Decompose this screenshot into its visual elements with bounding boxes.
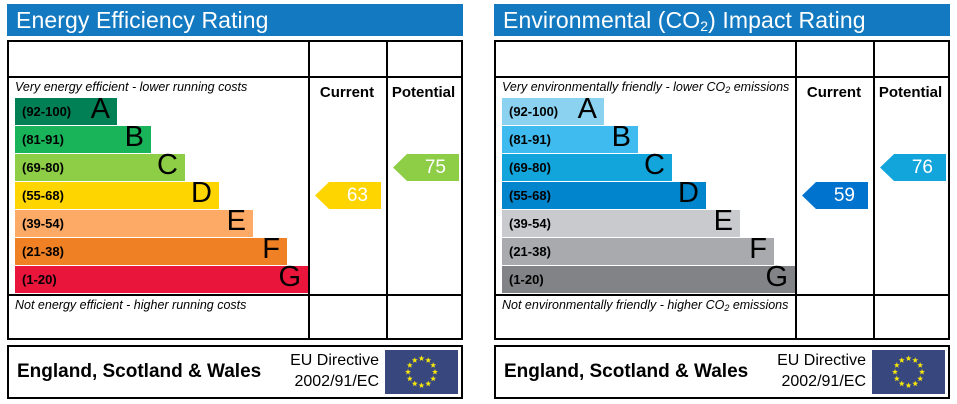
band-letter-label: A bbox=[91, 94, 110, 125]
potential-rating-arrow: 75 bbox=[393, 154, 459, 181]
band-letter-label: B bbox=[125, 122, 144, 153]
eu-directive-line1: EU Directive bbox=[736, 350, 866, 371]
rating-band-e: (39-54)E bbox=[502, 210, 740, 237]
co2-impact-panel: Environmental (CO2) Impact Rating Curren… bbox=[487, 0, 957, 404]
band-range-label: (55-68) bbox=[509, 182, 551, 209]
band-letter-label: A bbox=[578, 94, 597, 125]
band-letter-label: G bbox=[278, 262, 301, 293]
caption-top-text: Very environmentally friendly - lower CO bbox=[502, 80, 725, 94]
band-letter-label: F bbox=[749, 234, 767, 265]
rating-band-g: (1-20)G bbox=[15, 266, 308, 293]
caption-bottom: Not energy efficient - higher running co… bbox=[15, 296, 305, 314]
rating-band-e: (39-54)E bbox=[15, 210, 253, 237]
band-range-label: (69-80) bbox=[22, 154, 64, 181]
rating-band-a: (92-100)A bbox=[502, 98, 604, 125]
band-letter-label: E bbox=[227, 206, 246, 237]
region-label: England, Scotland & Wales bbox=[504, 347, 748, 397]
eu-directive-line2: 2002/91/EC bbox=[249, 371, 379, 392]
column-header-potential: Potential bbox=[873, 76, 948, 110]
potential-rating-arrow: 76 bbox=[880, 154, 946, 181]
band-range-label: (39-54) bbox=[509, 210, 551, 237]
column-header-potential: Potential bbox=[386, 76, 461, 110]
caption-bottom-suffix: emissions bbox=[729, 298, 788, 312]
eu-directive-label: EU Directive 2002/91/EC bbox=[249, 350, 379, 392]
caption-top-text: Very energy efficient - lower running co… bbox=[15, 80, 247, 94]
panel-title-subscript: 2 bbox=[700, 18, 708, 34]
panel-title: Environmental (CO2) Impact Rating bbox=[494, 4, 950, 36]
band-range-label: (39-54) bbox=[22, 210, 64, 237]
rating-band-c: (69-80)C bbox=[15, 154, 185, 181]
current-rating-arrow: 63 bbox=[315, 182, 381, 209]
band-list: (92-100)A(81-91)B(69-80)C(55-68)D(39-54)… bbox=[9, 98, 308, 294]
caption-bottom: Not environmentally friendly - higher CO… bbox=[502, 296, 792, 314]
band-range-label: (69-80) bbox=[509, 154, 551, 181]
panel-footer: England, Scotland & Wales EU Directive 2… bbox=[7, 345, 463, 399]
eu-flag-icon bbox=[385, 350, 458, 394]
band-letter-label: E bbox=[714, 206, 733, 237]
rating-band-d: (55-68)D bbox=[502, 182, 706, 209]
band-range-label: (21-38) bbox=[509, 238, 551, 265]
band-range-label: (1-20) bbox=[22, 266, 57, 293]
band-range-label: (21-38) bbox=[22, 238, 64, 265]
current-rating-arrow: 59 bbox=[802, 182, 868, 209]
caption-top-suffix: emissions bbox=[730, 80, 789, 94]
band-letter-label: B bbox=[612, 122, 631, 153]
rating-band-a: (92-100)A bbox=[15, 98, 117, 125]
rating-band-b: (81-91)B bbox=[502, 126, 638, 153]
caption-bottom-subscript: 2 bbox=[724, 303, 729, 313]
band-letter-label: D bbox=[191, 178, 212, 209]
band-range-label: (1-20) bbox=[509, 266, 544, 293]
ratings-table: Current Potential Very environmentally f… bbox=[494, 40, 950, 340]
caption-top: Very energy efficient - lower running co… bbox=[15, 78, 305, 96]
band-letter-label: F bbox=[262, 234, 280, 265]
band-range-label: (92-100) bbox=[509, 98, 558, 125]
eu-directive-label: EU Directive 2002/91/EC bbox=[736, 350, 866, 392]
rating-band-g: (1-20)G bbox=[502, 266, 795, 293]
rating-band-b: (81-91)B bbox=[15, 126, 151, 153]
caption-top-subscript: 2 bbox=[725, 85, 730, 95]
caption-bottom-text: Not environmentally friendly - higher CO bbox=[502, 298, 724, 312]
band-letter-label: C bbox=[157, 150, 178, 181]
column-header-current: Current bbox=[308, 76, 386, 110]
rating-band-c: (69-80)C bbox=[502, 154, 672, 181]
region-label: England, Scotland & Wales bbox=[17, 347, 261, 397]
eu-directive-line1: EU Directive bbox=[249, 350, 379, 371]
panel-title-text: Environmental (CO bbox=[503, 7, 700, 33]
band-letter-label: G bbox=[765, 262, 788, 293]
eu-flag-icon bbox=[872, 350, 945, 394]
ratings-table: Current Potential Very energy efficient … bbox=[7, 40, 463, 340]
band-range-label: (81-91) bbox=[22, 126, 64, 153]
rating-band-f: (21-38)F bbox=[502, 238, 774, 265]
band-letter-label: C bbox=[644, 150, 665, 181]
rating-band-f: (21-38)F bbox=[15, 238, 287, 265]
energy-efficiency-panel: Energy Efficiency Rating Current Potenti… bbox=[0, 0, 470, 404]
caption-top: Very environmentally friendly - lower CO… bbox=[502, 78, 792, 96]
caption-bottom-text: Not energy efficient - higher running co… bbox=[15, 298, 246, 312]
panel-footer: England, Scotland & Wales EU Directive 2… bbox=[494, 345, 950, 399]
panel-title: Energy Efficiency Rating bbox=[7, 4, 463, 36]
rating-band-d: (55-68)D bbox=[15, 182, 219, 209]
panel-title-suffix: ) Impact Rating bbox=[708, 7, 865, 33]
band-range-label: (92-100) bbox=[22, 98, 71, 125]
eu-directive-line2: 2002/91/EC bbox=[736, 371, 866, 392]
column-header-current: Current bbox=[795, 76, 873, 110]
band-range-label: (81-91) bbox=[509, 126, 551, 153]
band-list: (92-100)A(81-91)B(69-80)C(55-68)D(39-54)… bbox=[496, 98, 795, 294]
epc-ratings-sheet: Energy Efficiency Rating Current Potenti… bbox=[0, 0, 957, 404]
band-range-label: (55-68) bbox=[22, 182, 64, 209]
band-letter-label: D bbox=[678, 178, 699, 209]
panel-title-text: Energy Efficiency Rating bbox=[16, 7, 269, 33]
